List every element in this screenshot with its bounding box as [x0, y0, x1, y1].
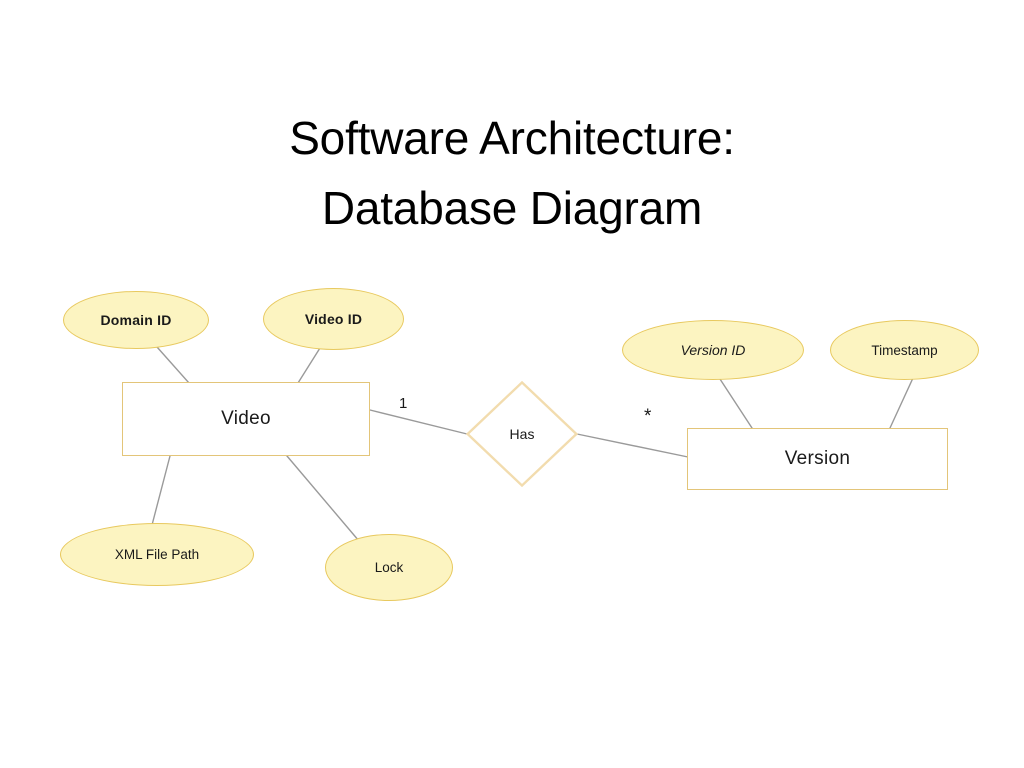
entity-version-label: Version [785, 448, 850, 470]
connector-video-to-has [370, 410, 467, 434]
relationship-has-label: Has [510, 426, 535, 442]
entity-video[interactable]: Video [122, 382, 370, 456]
attribute-version-id[interactable]: Version ID [622, 320, 804, 380]
attribute-video-id[interactable]: Video ID [263, 288, 404, 350]
attribute-xml-file-path-label: XML File Path [115, 547, 199, 562]
connector-video-id-to-video [298, 348, 320, 383]
relationship-has[interactable]: Has [466, 381, 578, 487]
connector-domain-id-to-video [157, 347, 189, 383]
attribute-version-id-label: Version ID [681, 342, 746, 358]
attribute-timestamp-label: Timestamp [871, 343, 937, 358]
entity-video-label: Video [221, 408, 271, 430]
cardinality-one-label: 1 [399, 395, 407, 412]
attribute-video-id-label: Video ID [305, 311, 362, 327]
connector-video-to-xml-path [152, 456, 170, 525]
slide-canvas: Software Architecture: Database Diagram … [0, 0, 1024, 768]
connector-has-to-version [577, 434, 688, 457]
entity-version[interactable]: Version [687, 428, 948, 490]
attribute-xml-file-path[interactable]: XML File Path [60, 523, 254, 586]
page-title-line-2: Database Diagram [0, 174, 1024, 244]
cardinality-one: 1 [399, 396, 407, 411]
attribute-domain-id[interactable]: Domain ID [63, 291, 209, 349]
attribute-lock-label: Lock [375, 560, 404, 575]
attribute-domain-id-label: Domain ID [100, 312, 171, 328]
cardinality-many: * [644, 407, 651, 426]
connector-version-id-to-version [718, 376, 752, 428]
page-title: Software Architecture: Database Diagram [0, 104, 1024, 244]
attribute-lock[interactable]: Lock [325, 534, 453, 601]
connector-timestamp-to-version [890, 378, 913, 428]
page-title-line-1: Software Architecture: [0, 104, 1024, 174]
attribute-timestamp[interactable]: Timestamp [830, 320, 979, 380]
connector-video-to-lock [287, 456, 359, 541]
cardinality-many-label: * [644, 406, 651, 427]
